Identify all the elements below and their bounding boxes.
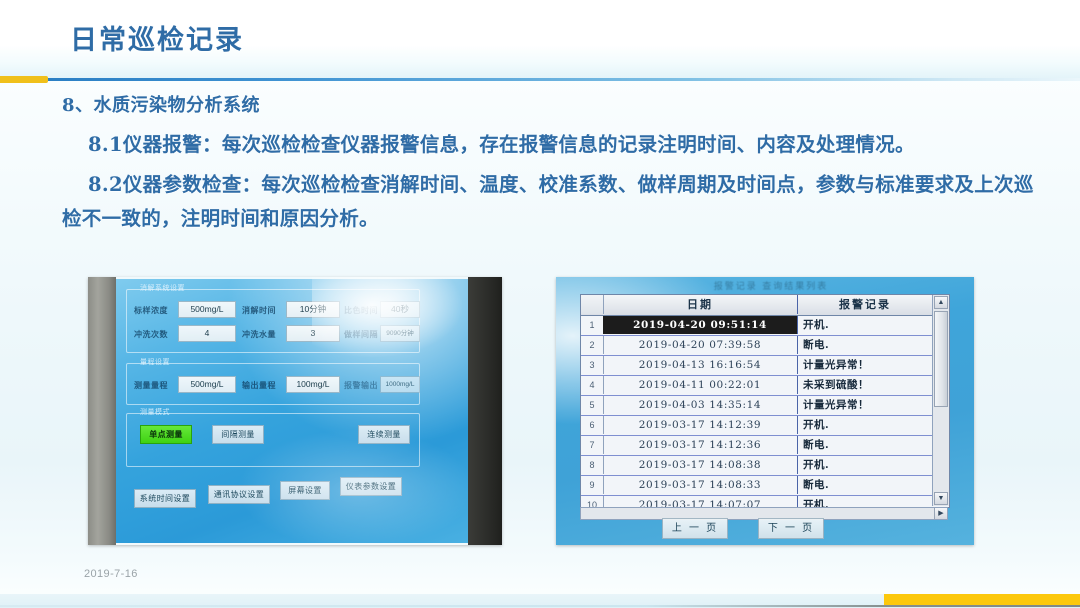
- table-row[interactable]: 72019-03-17 14:12:36断电.: [581, 436, 949, 456]
- cell-record: 计量光异常！: [798, 356, 937, 374]
- table-header-record: 报警记录: [798, 295, 932, 314]
- cell-date: 2019-03-17 14:08:33: [603, 476, 798, 494]
- table-row[interactable]: 92019-03-17 14:08:33断电.: [581, 476, 949, 496]
- footer-date: 2019-7-16: [84, 568, 138, 580]
- field-value-colorimetry-time[interactable]: 40秒: [380, 301, 420, 318]
- table-row[interactable]: 62019-03-17 14:12:39开机.: [581, 416, 949, 436]
- cell-date: 2019-04-13 16:16:54: [603, 356, 798, 374]
- instrument-bezel-right: [468, 277, 502, 545]
- section-heading: 8、水质污染物分析系统: [62, 92, 1080, 120]
- body-text: 8、水质污染物分析系统 8.1仪器报警：每次巡检检查仪器报警信息，存在报警信息的…: [0, 92, 1080, 242]
- slide-header: 日常巡检记录: [0, 0, 1080, 78]
- button-system-time-settings[interactable]: 系统时间设置: [134, 489, 196, 508]
- paragraph-8-1: 8.1仪器报警：每次巡检检查仪器报警信息，存在报警信息的记录注明时间、内容及处理…: [62, 128, 1046, 162]
- cell-row-number: 3: [581, 356, 604, 374]
- cell-record: 断电.: [798, 336, 937, 354]
- cell-row-number: 9: [581, 476, 604, 494]
- cell-record: 计量光异常！: [798, 396, 937, 414]
- cell-row-number: 6: [581, 416, 604, 434]
- scroll-right-icon[interactable]: ▶: [934, 508, 947, 519]
- field-label-measure-range: 测量量程: [134, 380, 168, 391]
- divider-blue-line: [48, 78, 1080, 81]
- photo-alarm-records: 报警记录 查询结果列表 日期 报警记录 12019-04-20 09:51:14…: [556, 277, 974, 545]
- cell-row-number: 7: [581, 436, 604, 454]
- scroll-thumb[interactable]: [934, 311, 948, 407]
- cell-date: 2019-04-11 00:22:01: [603, 376, 798, 394]
- cell-date: 2019-04-03 14:35:14: [603, 396, 798, 414]
- cell-record: 开机.: [798, 456, 937, 474]
- mode-button-continuous[interactable]: 连续测量: [358, 425, 410, 444]
- field-value-output-range[interactable]: 100mg/L: [286, 376, 340, 393]
- table-row[interactable]: 22019-04-20 07:39:58断电.: [581, 336, 949, 356]
- field-label-rinse-volume: 冲洗水量: [242, 329, 276, 340]
- button-comm-protocol-settings[interactable]: 通讯协议设置: [208, 485, 270, 504]
- table-row[interactable]: 52019-04-03 14:35:14计量光异常！: [581, 396, 949, 416]
- group-range-label: 量程设置: [137, 357, 173, 367]
- cell-record: 断电.: [798, 476, 937, 494]
- field-label-digestion-time: 消解时间: [242, 305, 276, 316]
- field-label-rinse-count: 冲洗次数: [134, 329, 168, 340]
- cell-record: 断电.: [798, 436, 937, 454]
- field-value-rinse-volume[interactable]: 3: [286, 325, 340, 342]
- alarm-records-table: 日期 报警记录 12019-04-20 09:51:14开机.22019-04-…: [580, 294, 950, 508]
- cell-row-number: 8: [581, 456, 604, 474]
- mode-button-interval[interactable]: 间隔测量: [212, 425, 264, 444]
- scroll-down-icon[interactable]: ▼: [934, 492, 948, 505]
- instrument-bezel-left: [88, 277, 116, 545]
- field-label-alarm-output: 报警输出: [344, 380, 378, 391]
- cell-row-number: 4: [581, 376, 604, 394]
- group-digestion-settings: 消解系统设置: [126, 289, 420, 353]
- photo-row: 消解系统设置 标样浓度 500mg/L 消解时间 10分钟 比色时间 40秒 冲…: [0, 277, 1080, 545]
- cell-date: 2019-04-20 09:51:14: [603, 316, 798, 334]
- divider-yellow-cap: [0, 76, 48, 83]
- table-row[interactable]: 42019-04-11 00:22:01未采到硫酸！: [581, 376, 949, 396]
- group-measure-mode-label: 测量模式: [137, 407, 173, 417]
- field-label-standard-concentration: 标样浓度: [134, 305, 168, 316]
- field-value-standard-concentration[interactable]: 500mg/L: [178, 301, 236, 318]
- cell-record: 开机.: [798, 316, 937, 334]
- button-screen-settings[interactable]: 屏幕设置: [280, 481, 330, 500]
- scroll-up-icon[interactable]: ▲: [934, 296, 948, 309]
- prev-page-button[interactable]: 上 一 页: [662, 518, 728, 539]
- field-value-sample-interval[interactable]: 9090分钟: [380, 325, 420, 342]
- field-value-rinse-count[interactable]: 4: [178, 325, 236, 342]
- header-divider: [0, 76, 1080, 84]
- next-page-button[interactable]: 下 一 页: [758, 518, 824, 539]
- table-header-row: 日期 报警记录: [581, 295, 949, 316]
- table-vertical-scrollbar[interactable]: ▲ ▼: [932, 295, 949, 506]
- field-value-digestion-time[interactable]: 10分钟: [286, 301, 340, 318]
- button-meter-parameter-settings[interactable]: 仪表参数设置: [340, 477, 402, 496]
- footer-line: [0, 605, 1080, 607]
- photo-instrument-parameters: 消解系统设置 标样浓度 500mg/L 消解时间 10分钟 比色时间 40秒 冲…: [88, 277, 502, 545]
- table-row[interactable]: 82019-03-17 14:08:38开机.: [581, 456, 949, 476]
- table-row[interactable]: 32019-04-13 16:16:54计量光异常！: [581, 356, 949, 376]
- cell-row-number: 5: [581, 396, 604, 414]
- group-digestion-label: 消解系统设置: [137, 283, 188, 293]
- table-row[interactable]: 12019-04-20 09:51:14开机.: [581, 316, 949, 336]
- page-title: 日常巡检记录: [70, 18, 244, 57]
- table-header-date: 日期: [603, 295, 798, 314]
- field-label-colorimetry-time: 比色时间: [344, 305, 378, 316]
- cell-record: 未采到硫酸！: [798, 376, 937, 394]
- cell-date: 2019-03-17 14:12:39: [603, 416, 798, 434]
- field-value-alarm-output[interactable]: 1000mg/L: [380, 376, 420, 393]
- field-label-output-range: 输出量程: [242, 380, 276, 391]
- field-value-measure-range[interactable]: 500mg/L: [178, 376, 236, 393]
- field-label-sample-interval: 做样间隔: [344, 329, 378, 340]
- slide-root: 日常巡检记录 8、水质污染物分析系统 8.1仪器报警：每次巡检检查仪器报警信息，…: [0, 0, 1080, 608]
- cell-record: 开机.: [798, 416, 937, 434]
- cell-date: 2019-03-17 14:08:38: [603, 456, 798, 474]
- instrument-panel-screen: 消解系统设置 标样浓度 500mg/L 消解时间 10分钟 比色时间 40秒 冲…: [116, 279, 468, 543]
- cell-date: 2019-03-17 14:12:36: [603, 436, 798, 454]
- footer-yellow-accent: [884, 594, 1080, 605]
- cell-row-number: 1: [581, 316, 604, 334]
- cell-date: 2019-04-20 07:39:58: [603, 336, 798, 354]
- mode-button-single-point[interactable]: 单点测量: [140, 425, 192, 444]
- table-header-rownum: [581, 295, 604, 314]
- table-body: 12019-04-20 09:51:14开机.22019-04-20 07:39…: [581, 316, 949, 508]
- alarm-screen-title: 报警记录 查询结果列表: [584, 279, 958, 294]
- cell-row-number: 2: [581, 336, 604, 354]
- paragraph-8-2: 8.2仪器参数检查：每次巡检检查消解时间、温度、校准系数、做样周期及时间点，参数…: [62, 168, 1046, 236]
